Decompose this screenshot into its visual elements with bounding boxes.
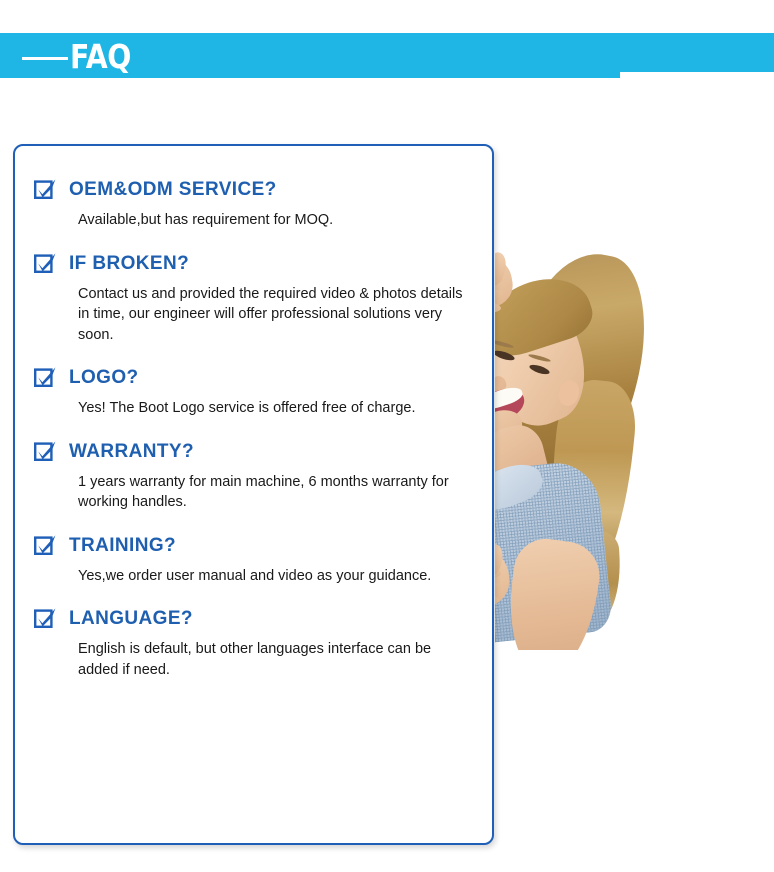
- faq-item-warranty[interactable]: WARRANTY? 1 years warranty for main mach…: [33, 440, 483, 513]
- checkbox-checked-icon: [33, 251, 57, 275]
- faq-question-row[interactable]: OEM&ODM SERVICE?: [33, 178, 483, 202]
- faq-question-label: TRAINING?: [69, 535, 176, 557]
- faq-question-row[interactable]: WARRANTY?: [33, 440, 483, 464]
- faq-question-label: IF BROKEN?: [69, 253, 189, 275]
- faq-list: OEM&ODM SERVICE? Available,but has requi…: [33, 178, 483, 680]
- ponytail: [540, 377, 640, 596]
- checkbox-checked-icon: [33, 177, 57, 201]
- faq-item-logo[interactable]: LOGO? Yes! The Boot Logo service is offe…: [33, 366, 483, 419]
- faq-question-label: LANGUAGE?: [69, 608, 193, 630]
- faq-answer-text: Yes,we order user manual and video as yo…: [78, 566, 470, 587]
- faq-answer-text: English is default, but other languages …: [78, 639, 470, 680]
- horizontal-rule-icon: [22, 57, 68, 60]
- hair-back: [496, 242, 661, 492]
- ear: [557, 378, 581, 407]
- ponytail-tip: [556, 528, 625, 628]
- header-banner-notch: [620, 72, 774, 80]
- checkbox-checked-icon: [33, 606, 57, 630]
- faq-card: OEM&ODM SERVICE? Available,but has requi…: [13, 144, 494, 845]
- faq-question-row[interactable]: LOGO?: [33, 366, 483, 390]
- faq-item-if-broken[interactable]: IF BROKEN? Contact us and provided the r…: [33, 252, 483, 346]
- eye-left: [492, 349, 515, 362]
- faq-answer-text: Contact us and provided the required vid…: [78, 284, 470, 346]
- faq-answer-text: Available,but has requirement for MOQ.: [78, 210, 470, 231]
- faq-question-row[interactable]: TRAINING?: [33, 534, 483, 558]
- faq-page: FAQ: [0, 0, 774, 872]
- eye-right: [528, 363, 550, 376]
- faq-question-row[interactable]: LANGUAGE?: [33, 607, 483, 631]
- faq-item-language[interactable]: LANGUAGE? English is default, but other …: [33, 607, 483, 680]
- faq-item-oem-odm-service[interactable]: OEM&ODM SERVICE? Available,but has requi…: [33, 178, 483, 231]
- arm: [500, 535, 604, 650]
- faq-question-label: WARRANTY?: [69, 441, 194, 463]
- faq-question-label: OEM&ODM SERVICE?: [69, 179, 277, 201]
- checkbox-checked-icon: [33, 365, 57, 389]
- eyebrow-right: [528, 353, 551, 363]
- faq-question-label: LOGO?: [69, 367, 139, 389]
- page-title: FAQ: [70, 38, 131, 76]
- checkbox-checked-icon: [33, 439, 57, 463]
- smiling-woman-peeking-behind-board-photo: [455, 230, 745, 650]
- faq-item-training[interactable]: TRAINING? Yes,we order user manual and v…: [33, 534, 483, 587]
- checkbox-checked-icon: [33, 533, 57, 557]
- faq-answer-text: Yes! The Boot Logo service is offered fr…: [78, 398, 470, 419]
- faq-answer-text: 1 years warranty for main machine, 6 mon…: [78, 472, 470, 513]
- faq-question-row[interactable]: IF BROKEN?: [33, 252, 483, 276]
